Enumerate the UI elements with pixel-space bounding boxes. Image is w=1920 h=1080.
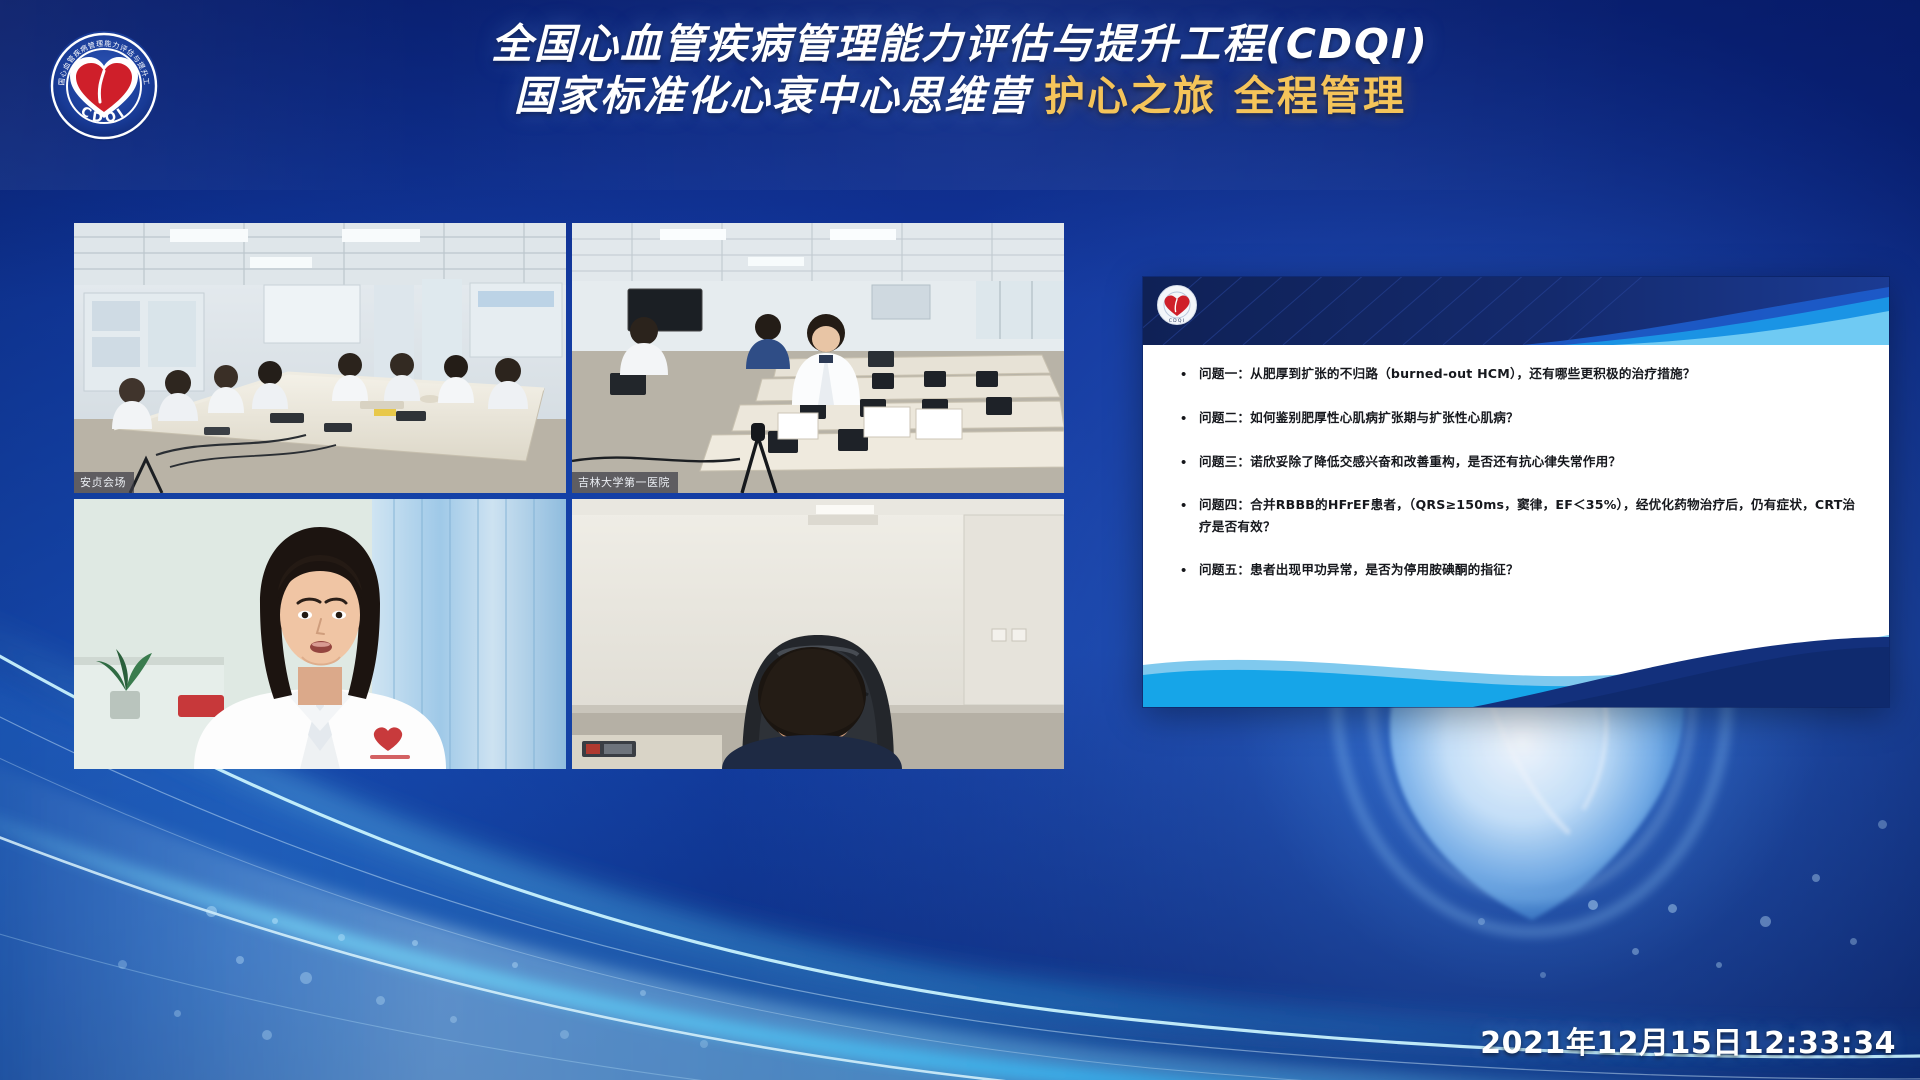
video-tile-2[interactable]: 吉林大学第一医院 [572, 223, 1064, 493]
slide-logo-text: CDQI [1169, 318, 1186, 324]
page-title-line1: 全国心血管疾病管理能力评估与提升工程(CDQI) [0, 22, 1920, 68]
bullet-marker-icon: • [1181, 495, 1199, 517]
video-tile-1-label: 安贞会场 [74, 472, 134, 493]
video-tile-3[interactable] [74, 499, 566, 769]
bullet-marker-icon: • [1181, 408, 1199, 430]
timestamp-overlay: 2021年12月15日12:33:34 [1480, 1018, 1896, 1062]
page-header: 全国心血管疾病管理能力评估与提升工程 CDQI 全国心血管疾病管理能力评估与提升… [0, 0, 1920, 175]
slide-bullet-list: • 问题一：从肥厚到扩张的不归路（burned-out HCM），还有哪些更积极… [1181, 363, 1867, 602]
video-grid: 安贞会场 [74, 223, 1064, 774]
slide-bullet-1-text: 问题一：从肥厚到扩张的不归路（burned-out HCM），还有哪些更积极的治… [1199, 363, 1696, 385]
header-title-block: 全国心血管疾病管理能力评估与提升工程(CDQI) 国家标准化心衰中心思维营护心之… [0, 22, 1920, 120]
slide-header: CDQI [1143, 277, 1889, 345]
bullet-marker-icon: • [1181, 452, 1199, 474]
slide-footer [1143, 621, 1889, 707]
slide-bullet-2: • 问题二：如何鉴别肥厚性心肌病扩张期与扩张性心肌病？ [1181, 407, 1867, 430]
slide-bullet-3: • 问题三：诺欣妥除了降低交感兴奋和改善重构，是否还有抗心律失常作用？ [1181, 451, 1867, 474]
presentation-slide[interactable]: CDQI • 问题一：从肥厚到扩张的不归路（burned-out HCM），还有… [1143, 277, 1889, 707]
video-tile-1[interactable]: 安贞会场 [74, 223, 566, 493]
page-title-line2: 国家标准化心衰中心思维营护心之旅全程管理 [0, 74, 1920, 120]
page-title-line2-gold-b: 全程管理 [1234, 72, 1406, 120]
slide-bullet-5: • 问题五：患者出现甲功异常，是否为停用胺碘酮的指征？ [1181, 559, 1867, 582]
slide-bullet-4: • 问题四：合并RBBB的HFrEF患者，（QRS≥150ms，窦律，EF＜35… [1181, 494, 1867, 537]
slide-bullet-1: • 问题一：从肥厚到扩张的不归路（burned-out HCM），还有哪些更积极… [1181, 363, 1867, 386]
slide-bullet-5-text: 问题五：患者出现甲功异常，是否为停用胺碘酮的指征？ [1199, 559, 1519, 581]
bullet-marker-icon: • [1181, 364, 1199, 386]
video-tile-2-label: 吉林大学第一医院 [572, 472, 678, 493]
slide-bullet-4-text: 问题四：合并RBBB的HFrEF患者，（QRS≥150ms，窦律，EF＜35%）… [1199, 494, 1867, 537]
slide-bullet-2-text: 问题二：如何鉴别肥厚性心肌病扩张期与扩张性心肌病？ [1199, 407, 1519, 429]
webinar-stage: 全国心血管疾病管理能力评估与提升工程 CDQI 全国心血管疾病管理能力评估与提升… [0, 0, 1920, 1080]
video-tile-4[interactable] [572, 499, 1064, 769]
page-title-line2-gold-a: 护心之旅 [1044, 72, 1216, 120]
slide-bullet-3-text: 问题三：诺欣妥除了降低交感兴奋和改善重构，是否还有抗心律失常作用？ [1199, 451, 1621, 473]
slide-cdqi-logo: CDQI [1157, 285, 1197, 325]
bullet-marker-icon: • [1181, 560, 1199, 582]
page-title-line2-white: 国家标准化心衰中心思维营 [514, 72, 1030, 120]
